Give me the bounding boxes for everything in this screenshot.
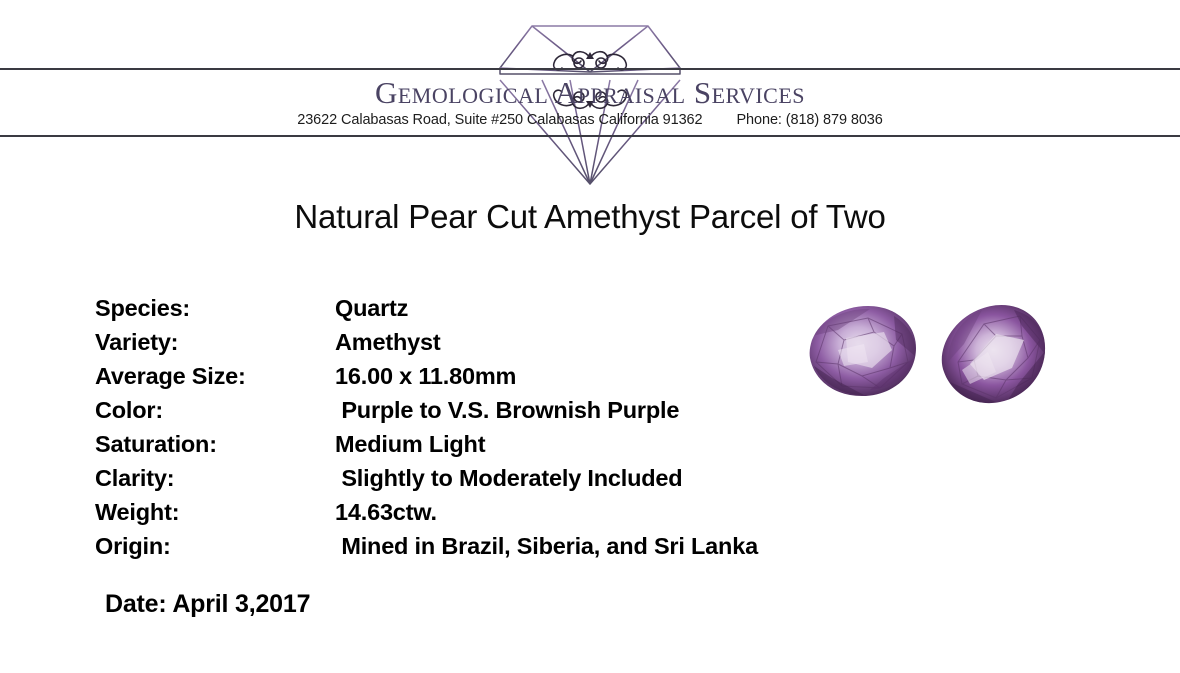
spec-label-species: Species: [95,291,335,325]
header-rule-top [0,68,1180,70]
spec-value-saturation: Medium Light [335,427,485,461]
table-row: Origin: Mined in Brazil, Siberia, and Sr… [95,529,885,563]
company-name: Gemological Appraisal Services [0,76,1180,110]
certificate-header: Gemological Appraisal Services 23622 Cal… [0,0,1180,190]
table-row: Average Size: 16.00 x 11.80mm [95,359,885,393]
spec-value-variety: Amethyst [335,325,440,359]
appraisal-date: Date: April 3,2017 [105,590,310,619]
spec-label-saturation: Saturation: [95,427,335,461]
spec-value-average-size: 16.00 x 11.80mm [335,359,516,393]
gem-specification-table: Species: Quartz Variety: Amethyst Averag… [95,291,885,563]
spec-value-weight: 14.63ctw. [335,495,437,529]
spec-label-origin: Origin: [95,529,335,563]
table-row: Species: Quartz [95,291,885,325]
table-row: Color: Purple to V.S. Brownish Purple [95,393,885,427]
table-row: Clarity: Slightly to Moderately Included [95,461,885,495]
table-row: Saturation: Medium Light [95,427,885,461]
table-row: Weight: 14.63ctw. [95,495,885,529]
company-contact-line: 23622 Calabasas Road, Suite #250 Calabas… [0,112,1180,128]
gem-left [810,306,916,396]
amethyst-pear-pair-photo [798,296,1060,418]
company-address: 23622 Calabasas Road, Suite #250 Calabas… [297,112,702,128]
spec-value-color: Purple to V.S. Brownish Purple [335,393,679,427]
header-rule-bottom [0,135,1180,137]
spec-label-variety: Variety: [95,325,335,359]
table-row: Variety: Amethyst [95,325,885,359]
spec-label-average-size: Average Size: [95,359,335,393]
spec-value-origin: Mined in Brazil, Siberia, and Sri Lanka [335,529,758,563]
company-phone: Phone: (818) 879 8036 [736,112,882,128]
gem-right [942,305,1046,404]
spec-label-color: Color: [95,393,335,427]
spec-label-clarity: Clarity: [95,461,335,495]
spec-value-clarity: Slightly to Moderately Included [335,461,682,495]
page-title: Natural Pear Cut Amethyst Parcel of Two [0,198,1180,236]
spec-label-weight: Weight: [95,495,335,529]
spec-value-species: Quartz [335,291,408,325]
